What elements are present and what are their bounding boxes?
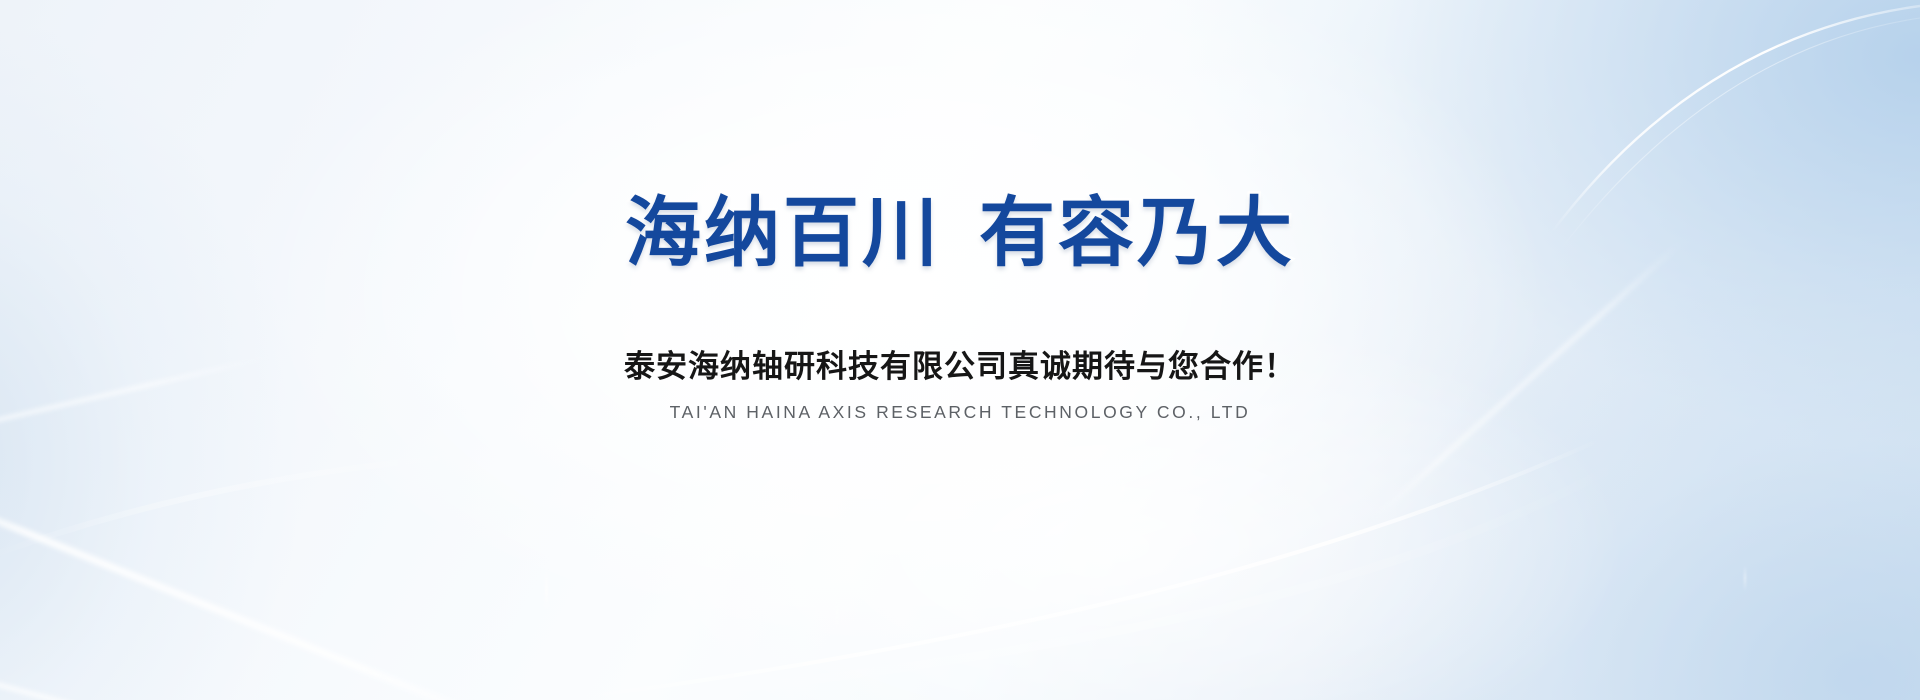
headline-part-1: 海纳百川 xyxy=(625,191,941,276)
banner-content: 海纳百川有容乃大 泰安海纳轴研科技有限公司真诚期待与您合作！ TAI'AN HA… xyxy=(0,0,1920,700)
banner-subtitle-english: TAI'AN HAINA AXIS RESEARCH TECHNOLOGY CO… xyxy=(670,402,1251,423)
hero-banner: 海纳百川有容乃大 泰安海纳轴研科技有限公司真诚期待与您合作！ TAI'AN HA… xyxy=(0,0,1920,700)
headline-part-2: 有容乃大 xyxy=(979,191,1295,276)
banner-headline: 海纳百川有容乃大 xyxy=(625,196,1295,272)
banner-subtitle-chinese: 泰安海纳轴研科技有限公司真诚期待与您合作！ xyxy=(624,348,1296,385)
